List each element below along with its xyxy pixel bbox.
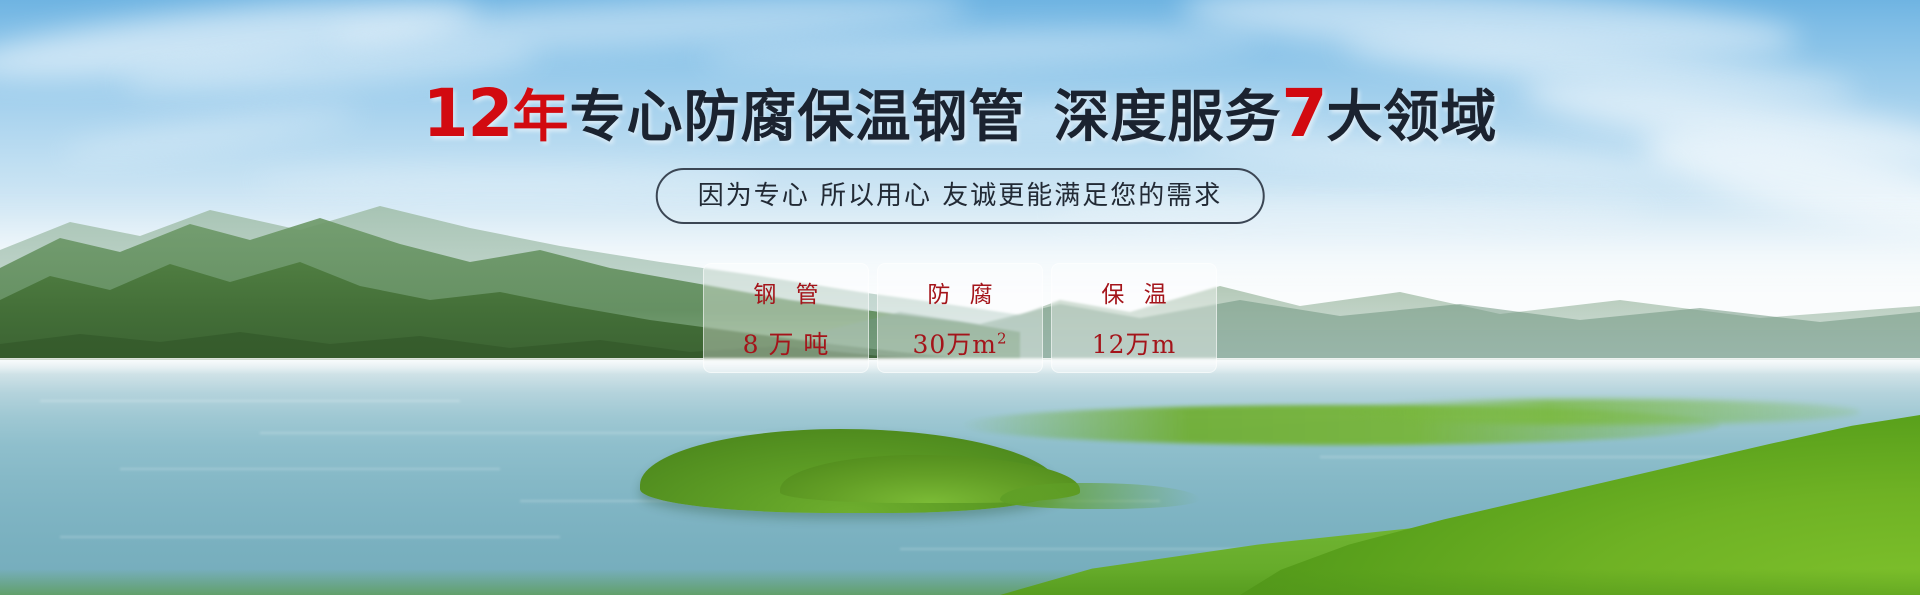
stat-card-anticorrosion[interactable]: 防 腐 30万m2 [877, 263, 1043, 373]
promo-banner: 12年专心防腐保温钢管深度服务7大领域 因为专心 所以用心 友诚更能满足您的需求… [0, 0, 1920, 595]
stat-card-title: 防 腐 [921, 275, 998, 309]
subtitle-pill: 因为专心 所以用心 友诚更能满足您的需求 [656, 168, 1265, 224]
stat-card-value: 12万m [1092, 325, 1177, 361]
headline-fields-number: 7 [1281, 75, 1326, 152]
headline: 12年专心防腐保温钢管深度服务7大领域 [0, 84, 1920, 148]
stat-card-value-text: 8 万 吨 [743, 330, 830, 359]
stat-card-value-sup: 2 [997, 330, 1008, 348]
stat-card-title: 保 温 [1095, 275, 1172, 309]
headline-service-text: 深度服务 [1053, 85, 1281, 150]
stat-card-value: 8 万 吨 [743, 325, 830, 361]
grass-bottom-fade [0, 569, 1920, 595]
headline-main-text: 专心防腐保温钢管 [569, 85, 1025, 150]
headline-years-number: 12 [423, 75, 513, 152]
stat-card-value-text: 30万m [912, 330, 997, 359]
stat-card-value-text: 12万m [1092, 330, 1177, 359]
stat-card-insulation[interactable]: 保 温 12万m [1051, 263, 1217, 373]
stat-card-steel-pipe[interactable]: 钢 管 8 万 吨 [703, 263, 869, 373]
stat-card-group: 钢 管 8 万 吨 防 腐 30万m2 保 温 12万m [703, 263, 1217, 373]
headline-years-unit: 年 [512, 85, 569, 150]
headline-fields-text: 大领域 [1326, 85, 1497, 150]
marsh-strip [1340, 399, 1860, 425]
stat-card-title: 钢 管 [747, 275, 824, 309]
stat-card-value: 30万m2 [912, 325, 1007, 361]
